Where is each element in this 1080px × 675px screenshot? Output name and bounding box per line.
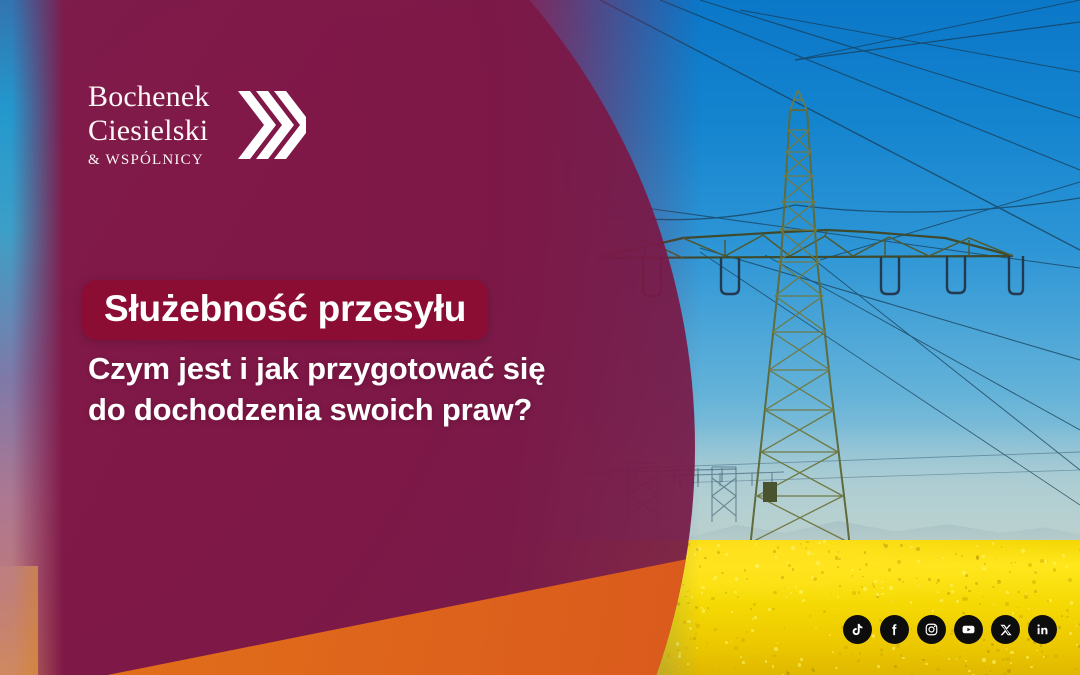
social-link-linkedin[interactable]: [1028, 615, 1057, 644]
linkedin-icon: [1035, 622, 1050, 637]
facebook-icon: [887, 622, 902, 637]
tiktok-icon: [850, 622, 865, 637]
brand-logo[interactable]: Bochenek Ciesielski & WSPÓLNICY: [88, 82, 308, 168]
brand-logo-wordmark: Bochenek Ciesielski & WSPÓLNICY: [88, 82, 210, 168]
youtube-icon: [961, 622, 976, 637]
headline-badge: Służebność przesyłu: [82, 280, 488, 340]
social-link-x-twitter[interactable]: [991, 615, 1020, 644]
subtitle-line-1: Czym jest i jak przygotować się: [88, 348, 545, 389]
promo-banner: Bochenek Ciesielski & WSPÓLNICY Służebno…: [0, 0, 1080, 675]
brand-logo-line-1: Bochenek: [88, 82, 210, 112]
social-links: [843, 615, 1057, 644]
headline-subtitle: Czym jest i jak przygotować się do docho…: [88, 348, 545, 430]
subtitle-line-2: do dochodzenia swoich praw?: [88, 389, 545, 430]
brand-logo-line-3: & WSPÓLNICY: [88, 153, 210, 168]
social-link-facebook[interactable]: [880, 615, 909, 644]
x-twitter-icon: [999, 623, 1013, 637]
headline-badge-text: Służebność przesyłu: [104, 290, 466, 327]
brand-logo-line-2: Ciesielski: [88, 116, 210, 146]
triple-chevron-right-icon: [236, 87, 308, 163]
rapeseed-field: [0, 540, 1080, 675]
social-link-youtube[interactable]: [954, 615, 983, 644]
social-link-tiktok[interactable]: [843, 615, 872, 644]
instagram-icon: [924, 622, 939, 637]
social-link-instagram[interactable]: [917, 615, 946, 644]
